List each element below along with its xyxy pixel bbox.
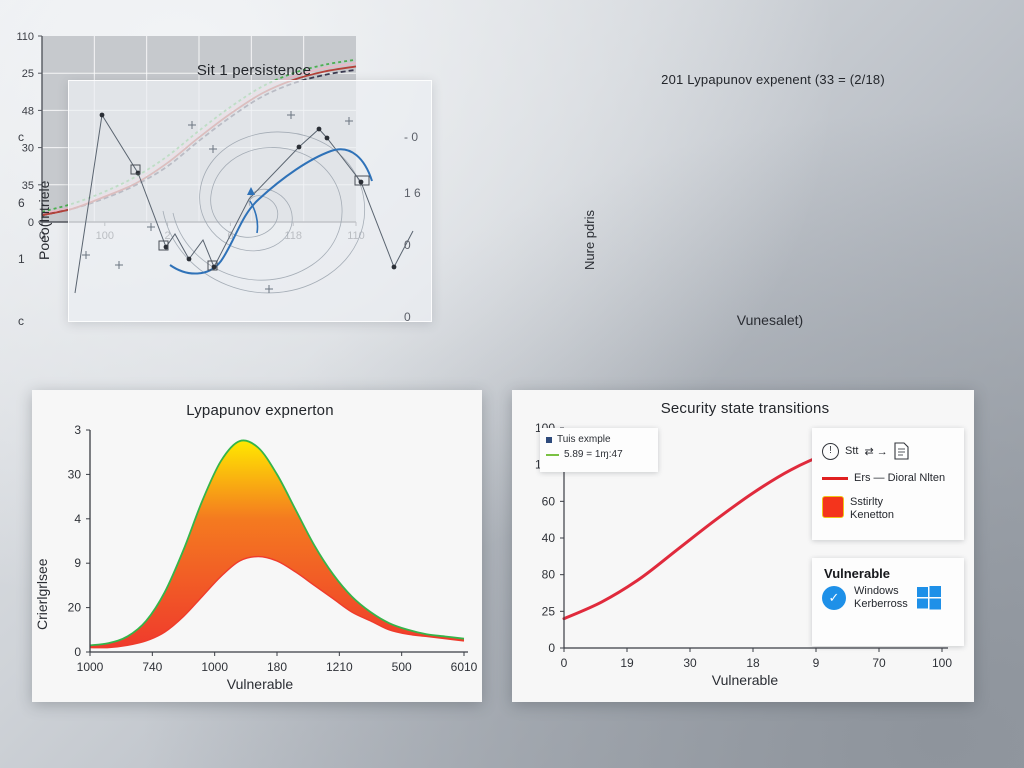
red-square-icon <box>822 496 844 518</box>
sigmoid-ytick-3: 30 <box>22 143 34 155</box>
density-ytick-3: 9 <box>74 556 81 570</box>
phase-portrait-ylabel: Poeo(Intriele <box>36 140 52 260</box>
sigmoid-ytick-4: 35 <box>22 180 34 192</box>
info-row-line[interactable]: Ers — Dioral Nlten <box>812 472 964 484</box>
states-xtick-0: 0 <box>561 656 568 670</box>
square-marker-icon <box>546 437 552 443</box>
density-xtick-1: 740 <box>142 660 162 674</box>
phase-right-tick-2: 0 <box>404 238 411 252</box>
density-ylabel: Crierlgrlsee <box>34 480 50 630</box>
phase-ytick-0: c <box>18 130 24 144</box>
states-xtick-3: 18 <box>746 656 760 670</box>
density-band <box>90 440 464 647</box>
states-ytick-5: 25 <box>542 604 556 618</box>
states-title: Security state transitions <box>560 400 930 417</box>
phase-right-tick-0: - 0 <box>404 130 418 144</box>
vulnerable-product-label: Windows Kerberross <box>854 585 908 611</box>
density-ytick-2: 4 <box>74 512 81 526</box>
security-line-1: Sstirlty <box>850 496 883 508</box>
legend-entry-0[interactable]: Tuis exmple <box>546 432 652 447</box>
phase-ytick-3: c <box>18 314 24 328</box>
spiral-attractor <box>163 132 365 293</box>
phase-ytick-1: 6 <box>18 196 25 210</box>
states-xtick-5: 70 <box>872 656 886 670</box>
series-legend[interactable]: Tuis exmple 5.89 = 1ɱ:47 <box>540 428 658 472</box>
phase-right-tick-3: 0 <box>404 310 411 324</box>
states-xtick-2: 30 <box>683 656 697 670</box>
data-point-markers <box>100 113 397 270</box>
legend-label-1: 5.89 = 1ɱ:47 <box>564 449 623 460</box>
states-ytick-3: 40 <box>542 531 556 545</box>
info-row-line-label: Ers — Dioral Nlten <box>854 472 945 484</box>
density-xtick-2: 1000 <box>201 660 228 674</box>
info-row-security[interactable]: Sstirlty Kenetton <box>812 496 964 522</box>
density-panel: 330492001000740100018012105006010 <box>32 390 482 702</box>
density-title: Lypapunov expnerton <box>60 402 460 419</box>
sigmoid-title: 201 Lypapunov expenent (33 = (2/18) <box>598 72 948 87</box>
line-marker-icon <box>546 454 559 456</box>
legend-entry-1[interactable]: 5.89 = 1ɱ:47 <box>546 447 652 462</box>
info-legend-card[interactable]: ! Stt ⇄ → Ers — Dioral Nlten Sstirlty Ke… <box>812 428 964 540</box>
vulnerable-card[interactable]: Vulnerable ✓ Windows Kerberross <box>812 558 964 646</box>
phase-right-tick-1: 1 6 <box>404 186 421 200</box>
sigmoid-ytick-1: 25 <box>22 68 34 80</box>
phase-portrait-title: Sit 1 persistence <box>104 62 404 79</box>
sigmoid-ylabel: Nure pdris <box>582 150 597 270</box>
arrow-icon: ⇄ → <box>864 445 887 458</box>
density-ytick-1: 30 <box>68 467 82 481</box>
info-row-state[interactable]: ! Stt ⇄ → <box>812 442 964 460</box>
product-line-2: Kerberross <box>854 598 908 610</box>
states-xtick-1: 19 <box>620 656 634 670</box>
blue-check-circle-icon: ✓ <box>822 586 846 610</box>
density-plot: 330492001000740100018012105006010 <box>32 390 482 702</box>
density-xlabel: Vulnerable <box>120 676 400 692</box>
windows-logo-icon <box>916 585 942 611</box>
vulnerable-card-row[interactable]: ✓ Windows Kerberross <box>812 585 964 611</box>
density-ytick-4: 20 <box>68 601 82 615</box>
states-ytick-6: 0 <box>548 641 555 655</box>
sigmoid-ytick-5: 0 <box>28 217 34 229</box>
density-ytick-5: 0 <box>74 645 81 659</box>
security-line-2: Kenetton <box>850 509 894 521</box>
states-ytick-2: 60 <box>542 494 556 508</box>
density-xtick-5: 500 <box>392 660 412 674</box>
phase-ytick-2: 1 <box>18 252 25 266</box>
info-circle-icon: ! <box>822 443 839 460</box>
phase-portrait-plot <box>69 81 431 321</box>
sigmoid-ytick-0: 110 <box>16 31 34 43</box>
sigmoid-ytick-2: 48 <box>22 105 34 117</box>
density-xtick-4: 1210 <box>326 660 353 674</box>
states-xtick-6: 100 <box>932 656 952 670</box>
states-xtick-4: 9 <box>813 656 820 670</box>
product-line-1: Windows <box>854 585 899 597</box>
phase-portrait-panel <box>68 80 432 322</box>
states-xlabel: Vulnerable <box>620 672 870 688</box>
zigzag-path <box>75 115 413 293</box>
legend-label-0: Tuis exmple <box>557 434 611 445</box>
sigmoid-xlabel: Vunesalet) <box>660 312 880 328</box>
document-icon <box>894 442 909 460</box>
states-ytick-4: 80 <box>542 568 556 582</box>
info-row-security-label: Sstirlty Kenetton <box>850 496 894 522</box>
info-row-state-label: Stt <box>845 445 858 457</box>
density-ytick-0: 3 <box>74 423 81 437</box>
density-xtick-6: 6010 <box>451 660 478 674</box>
red-line-icon <box>822 477 848 480</box>
density-xtick-3: 180 <box>267 660 287 674</box>
vulnerable-card-title: Vulnerable <box>812 558 964 585</box>
density-xtick-0: 1000 <box>77 660 104 674</box>
